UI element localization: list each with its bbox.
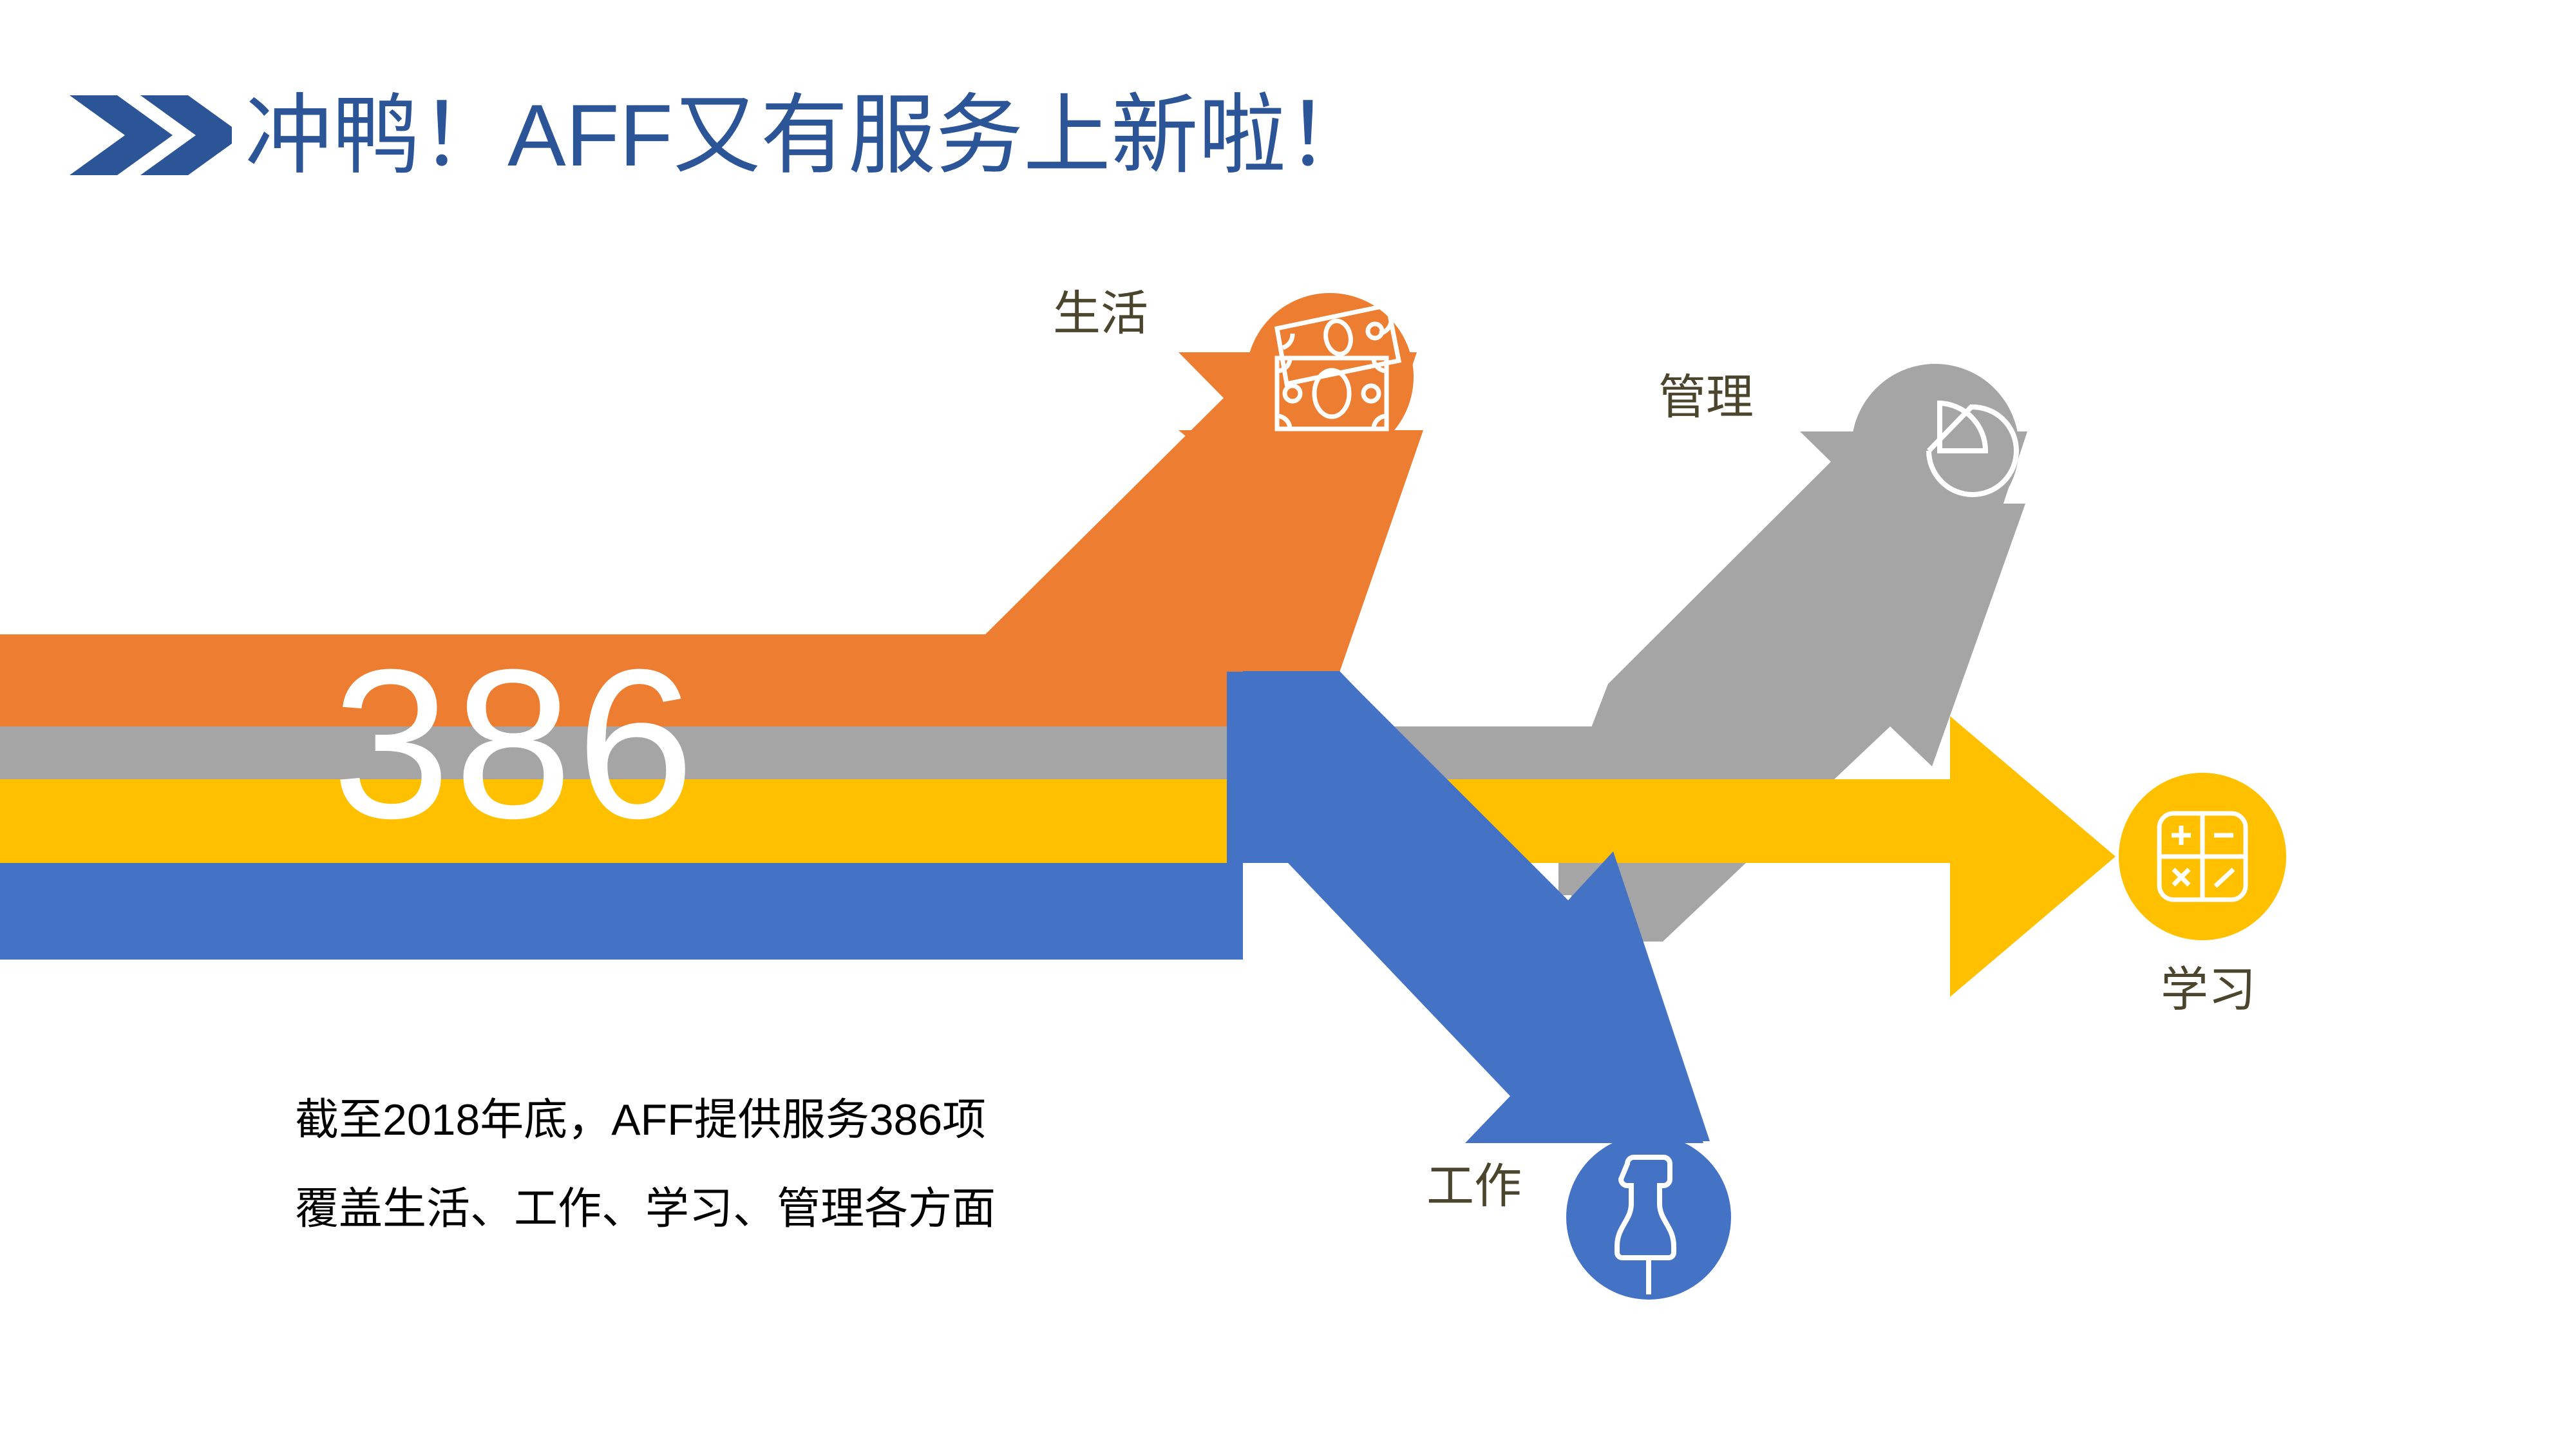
category-label-study: 学习	[2161, 966, 2256, 1014]
slide-canvas: 冲鸭！AFF又有服务上新啦！	[0, 0, 2576, 1449]
caption-line-2: 覆盖生活、工作、学习、管理各方面	[295, 1164, 996, 1253]
work-arrow	[0, 863, 1243, 960]
category-label-work: 工作	[1426, 1162, 1522, 1210]
caption-line-1: 截至2018年底，AFF提供服务386项	[295, 1075, 996, 1164]
category-label-manage: 管理	[1658, 374, 1754, 421]
caption-block: 截至2018年底，AFF提供服务386项 覆盖生活、工作、学习、管理各方面	[295, 1075, 996, 1253]
category-label-life: 生活	[1053, 290, 1148, 337]
life-arrow	[0, 634, 947, 726]
